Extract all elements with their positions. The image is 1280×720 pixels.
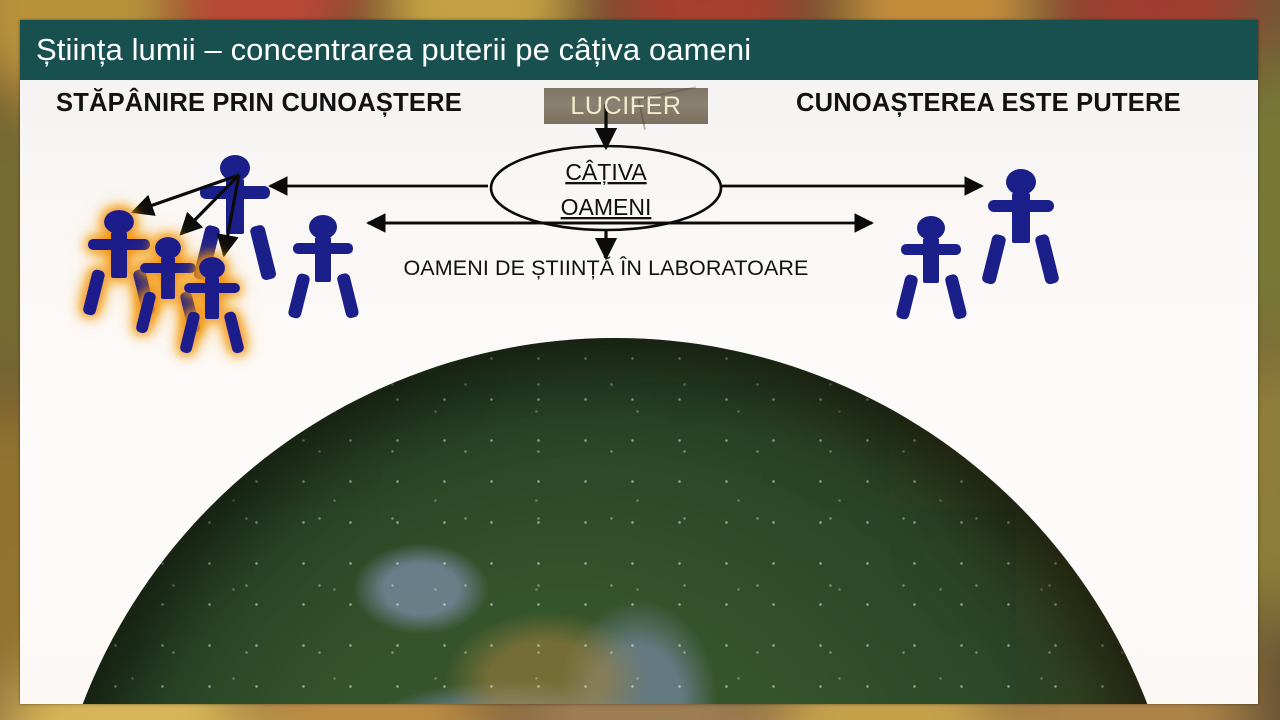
globe-container: [20, 320, 1258, 704]
lucifer-box: LUCIFER: [544, 88, 708, 124]
central-node-ellipse: [491, 146, 721, 230]
lab-scientists-label: OAMENI DE ȘTIINȚĂ ÎN LABORATOARE: [403, 255, 808, 280]
central-node-line1: CÂȚIVA: [565, 159, 647, 185]
heading-left-mastery-through-knowledge: STĂPÂNIRE PRIN CUNOAȘTERE: [56, 89, 462, 118]
title-bar: Știința lumii – concentrarea puterii pe …: [20, 20, 1258, 80]
person-icon-middle-left: [287, 215, 359, 319]
person-icon-right-outer: [981, 169, 1060, 285]
person-icon-leader: [193, 155, 277, 281]
person-icon-follower-1: [82, 210, 156, 316]
control-arrow-3: [224, 175, 239, 255]
control-arrow-1: [133, 175, 239, 212]
slide-panel: Știința lumii – concentrarea puterii pe …: [20, 20, 1258, 704]
globe-image: [45, 338, 1185, 704]
person-icon-right-inner: [895, 216, 967, 320]
slide-root: Știința lumii – concentrarea puterii pe …: [0, 0, 1280, 720]
heading-right-knowledge-is-power: CUNOAȘTEREA ESTE PUTERE: [796, 89, 1181, 118]
lucifer-label: LUCIFER: [570, 92, 681, 121]
globe-rim-shadow: [45, 338, 1185, 704]
central-node-line2: OAMENI: [561, 194, 652, 220]
slide-title: Știința lumii – concentrarea puterii pe …: [36, 32, 751, 68]
control-arrow-2: [181, 175, 239, 234]
